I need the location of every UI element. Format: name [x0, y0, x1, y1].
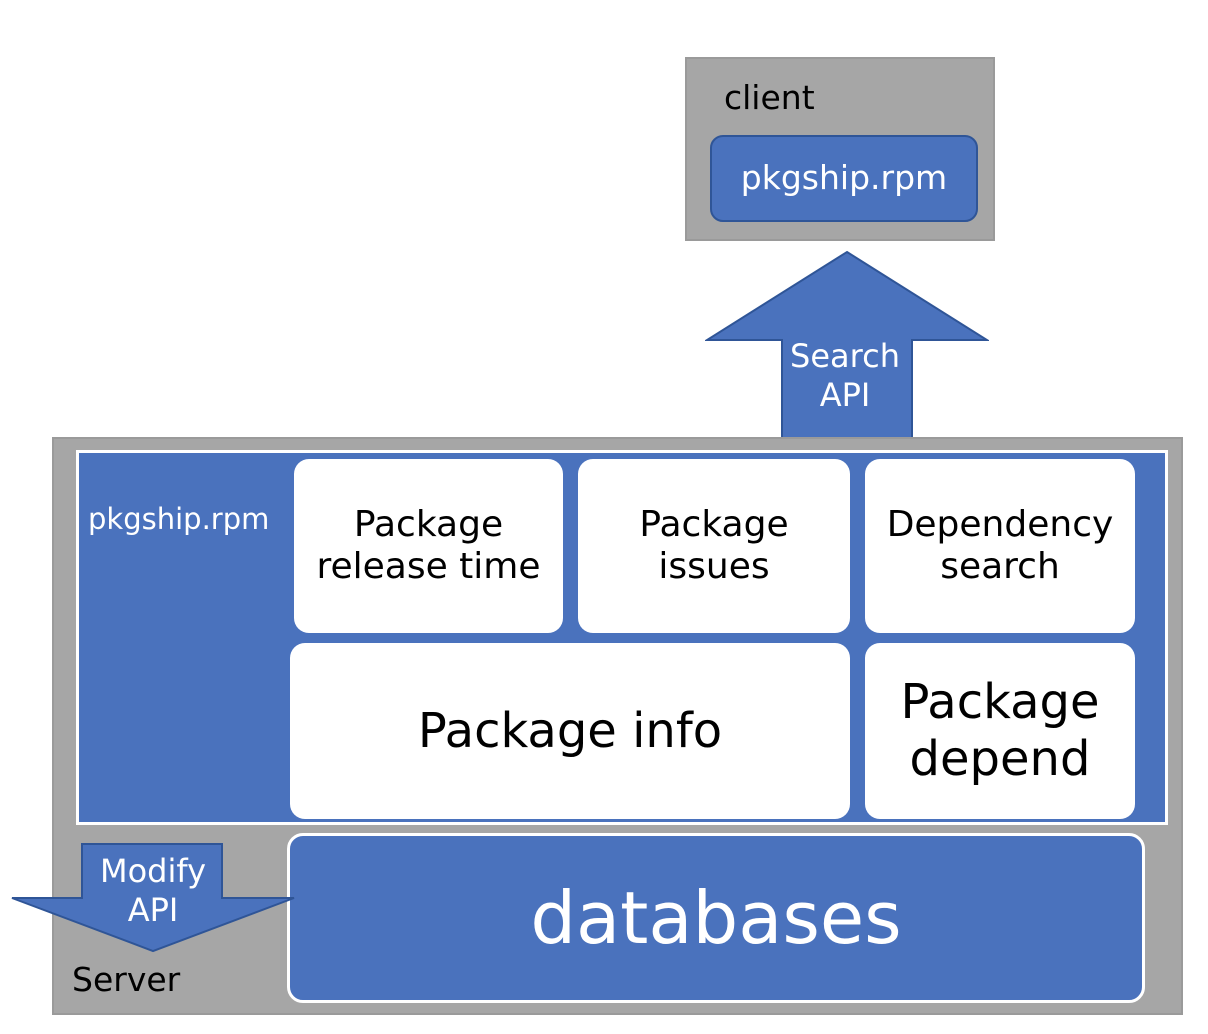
modify-api-line-2: API [128, 891, 179, 930]
client-pkgship-rpm-box: pkgship.rpm [710, 135, 978, 222]
search-api-line-1: Search [790, 337, 900, 376]
architecture-diagram-canvas: client pkgship.rpm Search API Server pkg… [0, 0, 1208, 1034]
feature-label-line-2: depend [910, 731, 1091, 788]
feature-label-line-1: Package [354, 504, 503, 546]
feature-card-package-release-time: Package release time [294, 459, 563, 633]
databases-label: databases [530, 876, 901, 961]
feature-label-line-2: issues [658, 546, 769, 588]
server-pkgship-rpm-label: pkgship.rpm [88, 502, 269, 536]
feature-label-line-1: Package [901, 674, 1100, 731]
client-label: client [724, 78, 815, 117]
feature-card-dependency-search: Dependency search [865, 459, 1135, 633]
server-label: Server [72, 960, 180, 999]
feature-label-line-2: search [940, 546, 1060, 588]
search-api-arrow-label: Search API [779, 330, 911, 422]
modify-api-arrow-label: Modify API [82, 845, 224, 937]
feature-label-line-2: release time [316, 546, 540, 588]
feature-card-package-info: Package info [290, 643, 850, 819]
feature-label-line-1: Package [639, 504, 788, 546]
databases-box: databases [287, 833, 1145, 1003]
search-api-line-2: API [820, 376, 871, 415]
modify-api-line-1: Modify [100, 852, 206, 891]
feature-label-line-1: Package info [418, 703, 722, 760]
feature-card-package-issues: Package issues [578, 459, 850, 633]
feature-card-package-depend: Package depend [865, 643, 1135, 819]
feature-label-line-1: Dependency [887, 504, 1114, 546]
client-pkgship-rpm-label: pkgship.rpm [741, 159, 947, 198]
